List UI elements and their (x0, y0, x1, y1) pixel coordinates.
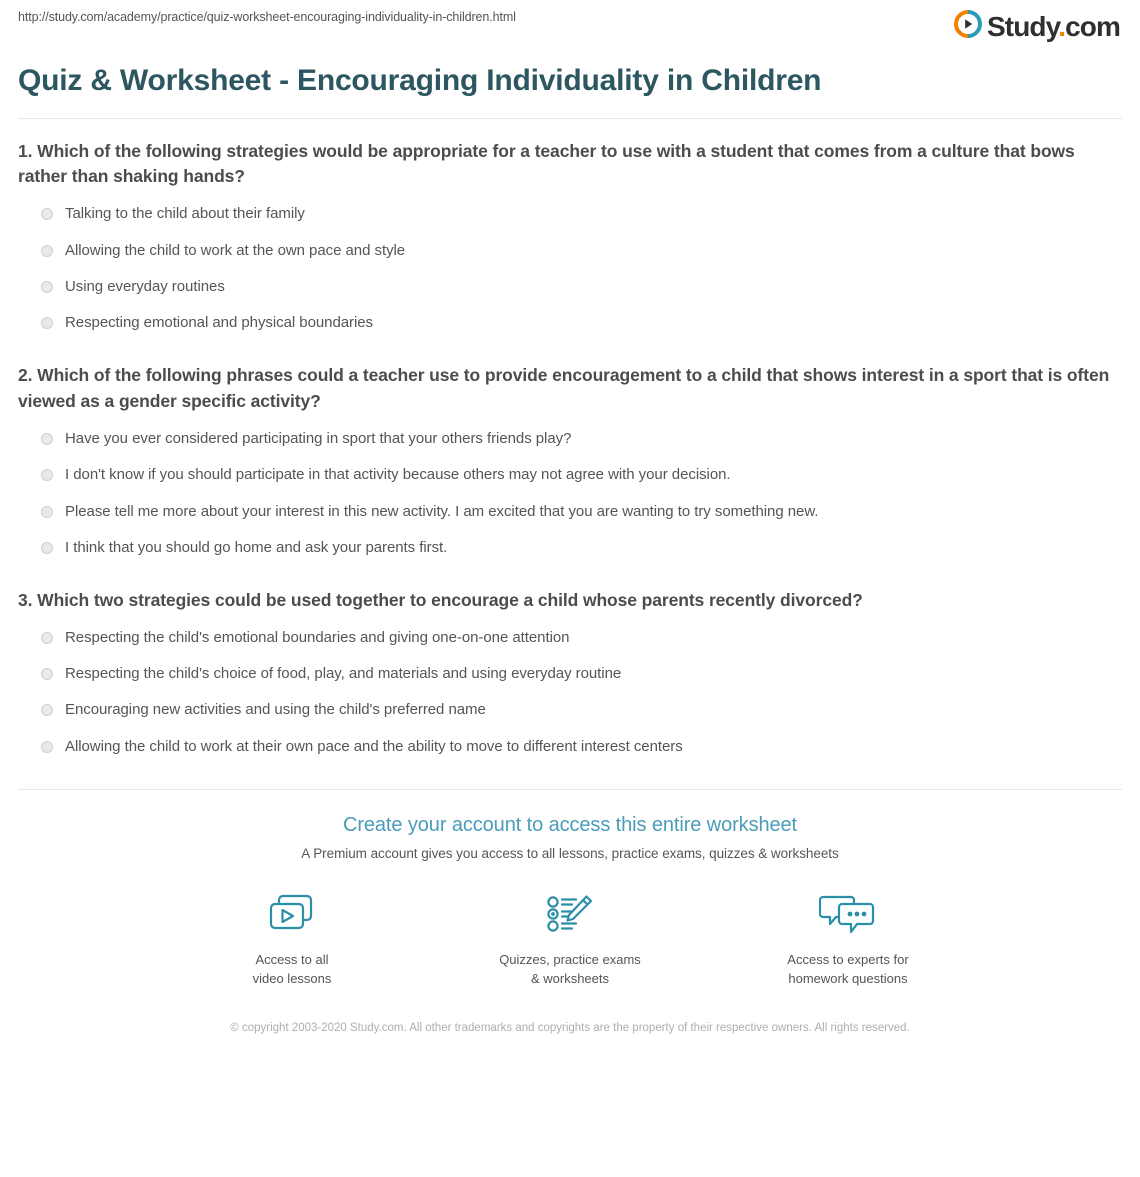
choice-option[interactable]: Have you ever considered participating i… (18, 429, 1122, 449)
feature-experts: Access to experts for homework questions (773, 887, 923, 988)
worksheet-page: http://study.com/academy/practice/quiz-w… (0, 0, 1140, 1177)
radio-button-icon[interactable] (41, 245, 53, 257)
radio-button-icon[interactable] (41, 469, 53, 481)
question-1-choices: Talking to the child about their family … (18, 204, 1122, 333)
choice-option[interactable]: Respecting the child's emotional boundar… (18, 628, 1122, 648)
radio-button-icon[interactable] (41, 741, 53, 753)
chat-bubbles-icon (819, 887, 877, 941)
choice-option[interactable]: Using everyday routines (18, 277, 1122, 297)
logo-word-study: Study (987, 11, 1058, 42)
question-3-text: 3. Which two strategies could be used to… (18, 588, 1122, 614)
radio-button-icon[interactable] (41, 208, 53, 220)
question-1-text: 1. Which of the following strategies wou… (18, 139, 1122, 191)
choice-option[interactable]: Encouraging new activities and using the… (18, 700, 1122, 720)
choice-label: Encouraging new activities and using the… (65, 700, 486, 720)
feature-label: Access to all video lessons (253, 950, 332, 988)
choice-label: Please tell me more about your interest … (65, 502, 818, 522)
questions-list: 1. Which of the following strategies wou… (18, 119, 1122, 757)
choice-label: Respecting emotional and physical bounda… (65, 313, 373, 333)
logo-wordmark: Study.com (987, 13, 1120, 41)
choice-label: Allowing the child to work at their own … (65, 737, 683, 757)
choice-label: Respecting the child's emotional boundar… (65, 628, 569, 648)
question-3-choices: Respecting the child's emotional boundar… (18, 628, 1122, 757)
page-title: Quiz & Worksheet - Encouraging Individua… (18, 62, 1122, 100)
choice-label: Have you ever considered participating i… (65, 429, 571, 449)
page-url: http://study.com/academy/practice/quiz-w… (18, 10, 516, 25)
question-2-text: 2. Which of the following phrases could … (18, 363, 1122, 415)
cta-subtext: A Premium account gives you access to al… (18, 846, 1122, 861)
page-header: http://study.com/academy/practice/quiz-w… (18, 0, 1122, 46)
video-lessons-icon (265, 887, 319, 941)
radio-button-icon[interactable] (41, 704, 53, 716)
feature-video-lessons: Access to all video lessons (217, 887, 367, 988)
choice-option[interactable]: Talking to the child about their family (18, 204, 1122, 224)
copyright-text: © copyright 2003-2020 Study.com. All oth… (220, 1020, 920, 1038)
choice-option[interactable]: Please tell me more about your interest … (18, 502, 1122, 522)
feature-quizzes: Quizzes, practice exams & worksheets (495, 887, 645, 988)
logo-word-com: com (1065, 11, 1120, 42)
radio-button-icon[interactable] (41, 632, 53, 644)
radio-button-icon[interactable] (41, 542, 53, 554)
choice-label: Respecting the child's choice of food, p… (65, 664, 621, 684)
quiz-pencil-icon (543, 887, 597, 941)
study-com-logo[interactable]: Study.com (954, 10, 1122, 43)
cta-section: Create your account to access this entir… (18, 790, 1122, 988)
choice-label: I think that you should go home and ask … (65, 538, 447, 558)
feature-label: Quizzes, practice exams & worksheets (499, 950, 641, 988)
choice-option[interactable]: I don't know if you should participate i… (18, 465, 1122, 485)
title-section: Quiz & Worksheet - Encouraging Individua… (18, 46, 1122, 119)
choice-label: Talking to the child about their family (65, 204, 305, 224)
question-2-choices: Have you ever considered participating i… (18, 429, 1122, 558)
choice-option[interactable]: Allowing the child to work at their own … (18, 737, 1122, 757)
choice-label: Using everyday routines (65, 277, 225, 297)
choice-label: Allowing the child to work at the own pa… (65, 241, 405, 261)
choice-label: I don't know if you should participate i… (65, 465, 731, 485)
radio-button-icon[interactable] (41, 433, 53, 445)
question-3: 3. Which two strategies could be used to… (18, 588, 1122, 757)
question-1: 1. Which of the following strategies wou… (18, 139, 1122, 334)
choice-option[interactable]: Allowing the child to work at the own pa… (18, 241, 1122, 261)
cta-features: Access to all video lessons (18, 887, 1122, 988)
radio-button-icon[interactable] (41, 506, 53, 518)
radio-button-icon[interactable] (41, 281, 53, 293)
question-2: 2. Which of the following phrases could … (18, 363, 1122, 558)
radio-button-icon[interactable] (41, 668, 53, 680)
play-circle-icon (954, 10, 982, 43)
choice-option[interactable]: Respecting emotional and physical bounda… (18, 313, 1122, 333)
choice-option[interactable]: I think that you should go home and ask … (18, 538, 1122, 558)
choice-option[interactable]: Respecting the child's choice of food, p… (18, 664, 1122, 684)
radio-button-icon[interactable] (41, 317, 53, 329)
cta-headline[interactable]: Create your account to access this entir… (18, 814, 1122, 837)
feature-label: Access to experts for homework questions (787, 950, 908, 988)
